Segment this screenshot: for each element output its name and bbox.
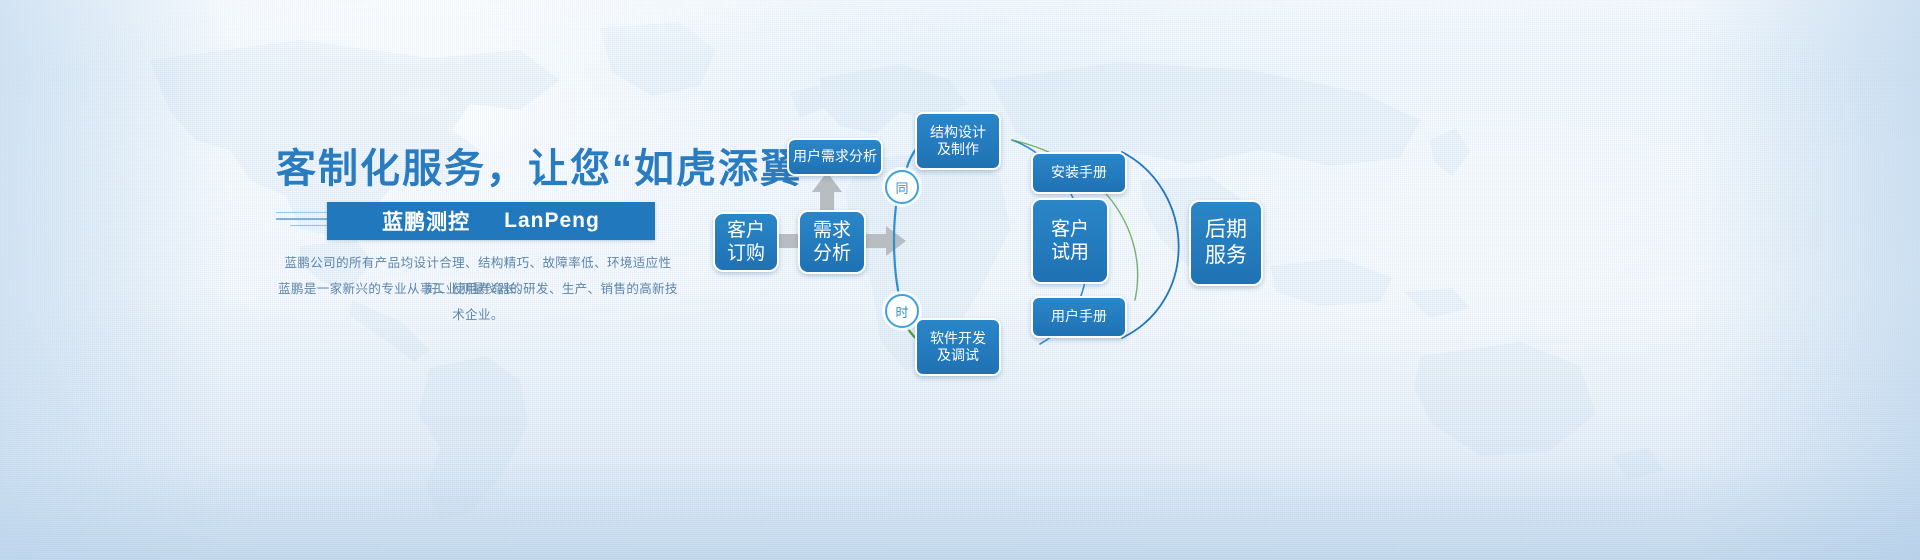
node-install-manual-label: 安装手册 [1051, 164, 1107, 181]
banner-stage: 客制化服务，让您“如虎添翼” 蓝鹏测控 LanPeng 蓝鹏公司的所有产品均设计… [0, 0, 1920, 560]
node-customer-trial-line2: 试用 [1051, 241, 1089, 264]
node-customer-trial[interactable]: 客户 试用 [1031, 198, 1109, 284]
node-structure-design-line2: 及制作 [937, 141, 979, 158]
badge-tong-label: 同 [895, 178, 908, 197]
node-user-demand-analysis-label: 用户需求分析 [793, 148, 877, 165]
badge-tong: 同 [885, 170, 919, 204]
node-structure-design[interactable]: 结构设计 及制作 [915, 112, 1001, 170]
node-customer-order[interactable]: 客户 订购 [713, 212, 779, 272]
node-user-manual-label: 用户手册 [1051, 308, 1107, 325]
node-structure-design-line1: 结构设计 [930, 124, 986, 141]
node-after-service[interactable]: 后期 服务 [1189, 200, 1263, 286]
process-flow-diagram: 客户 订购 需求 分析 用户需求分析 结构设计 及制作 软件开发 及调试 安装手… [0, 0, 1920, 560]
node-user-demand-analysis[interactable]: 用户需求分析 [787, 138, 883, 176]
node-customer-trial-line1: 客户 [1051, 218, 1089, 241]
node-user-manual[interactable]: 用户手册 [1031, 296, 1127, 338]
node-after-service-line1: 后期 [1205, 217, 1247, 243]
node-requirement-analysis-line1: 需求 [813, 219, 851, 242]
node-software-dev-line2: 及调试 [937, 347, 979, 364]
badge-shi: 时 [885, 294, 919, 328]
badge-shi-label: 时 [895, 302, 908, 321]
node-customer-order-line2: 订购 [727, 242, 765, 265]
node-requirement-analysis-line2: 分析 [813, 242, 851, 265]
node-install-manual[interactable]: 安装手册 [1031, 152, 1127, 194]
node-requirement-analysis[interactable]: 需求 分析 [798, 210, 866, 274]
node-software-dev[interactable]: 软件开发 及调试 [915, 318, 1001, 376]
node-customer-order-line1: 客户 [727, 219, 765, 242]
node-after-service-line2: 服务 [1205, 243, 1247, 269]
node-software-dev-line1: 软件开发 [930, 330, 986, 347]
